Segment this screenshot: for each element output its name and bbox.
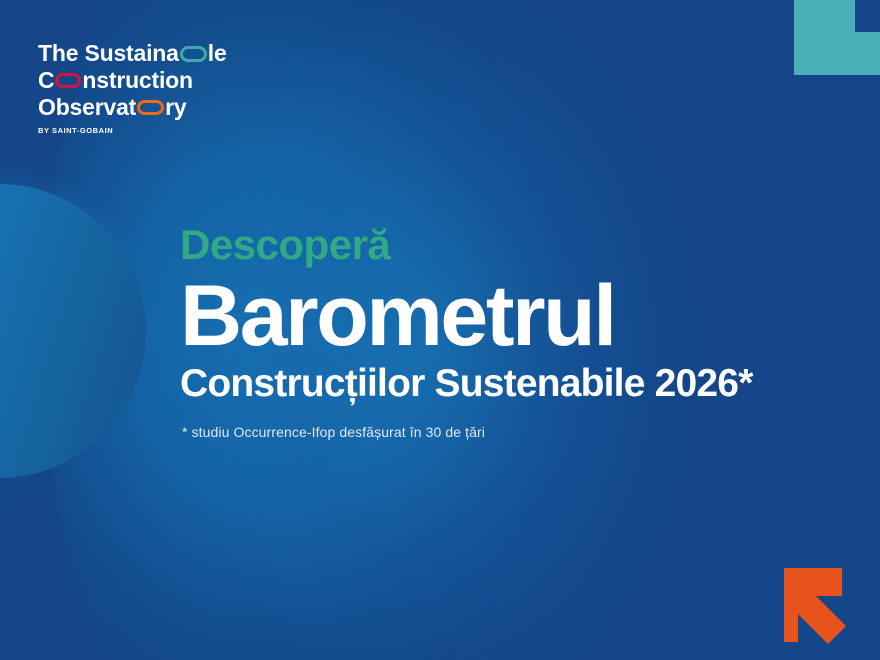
- headline-eyebrow: Descoperă: [180, 222, 880, 268]
- logo-line-2-pre: C: [38, 67, 54, 93]
- logo-ring-letter-b-icon: [180, 46, 207, 62]
- logo-line-1: The Sustainale: [38, 40, 298, 67]
- teal-corner-bracket-icon: [794, 0, 880, 75]
- logo-line-1-pre: The Sustaina: [38, 40, 179, 66]
- saint-gobain-arrow-icon: [780, 564, 862, 646]
- left-accent-circle: [0, 184, 146, 478]
- headline-footnote: * studiu Occurrence-Ifop desfășurat în 3…: [182, 422, 880, 442]
- promo-banner: The Sustainale Cnstruction Observatry BY…: [0, 0, 880, 660]
- logo-line-2-post: nstruction: [82, 67, 192, 93]
- logo-ring-letter-o-red-icon: [55, 73, 81, 88]
- logo-line-3-post: ry: [165, 94, 186, 120]
- logo-line-3-pre: Observat: [38, 94, 136, 120]
- logo-line-3: Observatry: [38, 94, 298, 121]
- headline-block: Descoperă Barometrul Construcțiilor Sust…: [180, 222, 880, 442]
- teal-bracket-notch: [855, 0, 880, 32]
- logo-line-2: Cnstruction: [38, 67, 298, 94]
- observatory-logo: The Sustainale Cnstruction Observatry BY…: [38, 40, 298, 135]
- logo-byline: BY SAINT-GOBAIN: [38, 126, 298, 135]
- logo-line-1-post: le: [208, 40, 227, 66]
- logo-ring-letter-o-orange-icon: [137, 100, 164, 115]
- headline-subtitle: Construcțiilor Sustenabile 2026*: [180, 362, 880, 406]
- headline-title: Barometrul: [180, 272, 880, 360]
- left-accent-circle-glow: [0, 172, 160, 492]
